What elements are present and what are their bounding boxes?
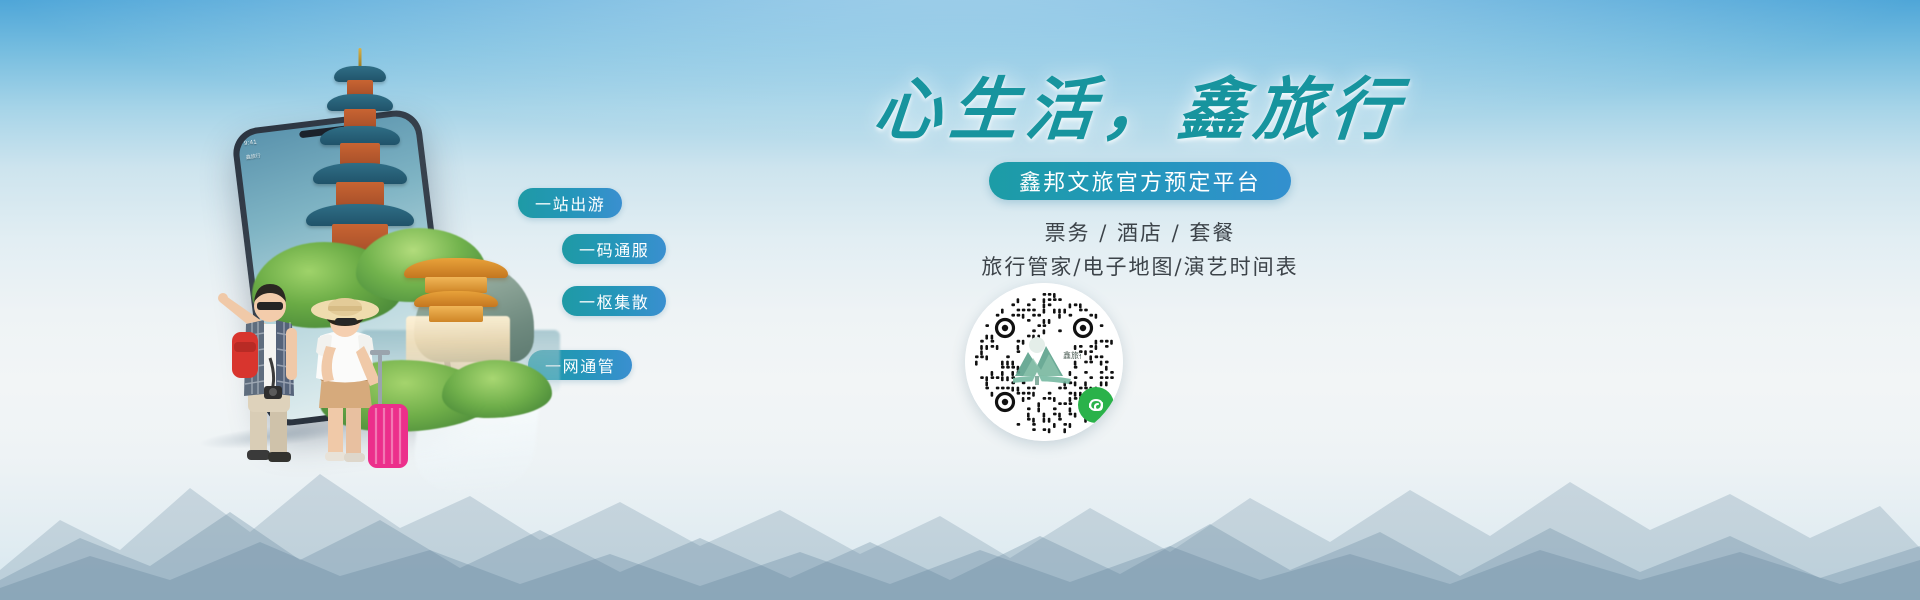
copy-block: 心生活，鑫旅行 鑫邦文旅官方预定平台 票务 / 酒店 / 套餐 旅行管家/电子地… bbox=[790, 72, 1490, 284]
wechat-miniprogram-icon bbox=[1078, 387, 1114, 423]
feature-pill-label: 一站出游 bbox=[535, 191, 605, 215]
mountain-layer-near bbox=[0, 480, 1920, 600]
feature-pill-label: 一码通服 bbox=[579, 237, 649, 261]
headline: 心生活，鑫旅行 bbox=[787, 72, 1494, 148]
platform-badge[interactable]: 鑫邦文旅官方预定平台 bbox=[989, 162, 1291, 200]
wechat-miniprogram-qr[interactable]: 鑫旅行 bbox=[965, 283, 1123, 441]
service-description: 票务 / 酒店 / 套餐 旅行管家/电子地图/演艺时间表 bbox=[790, 216, 1490, 284]
feature-pill-yizhanchuyou[interactable]: 一站出游 bbox=[518, 188, 622, 218]
qr-logo-text: 鑫旅行 bbox=[1063, 350, 1081, 360]
platform-badge-label: 鑫邦文旅官方预定平台 bbox=[1019, 165, 1261, 197]
service-line-1: 票务 / 酒店 / 套餐 bbox=[790, 216, 1490, 250]
qr-brand-logo: 鑫旅行 bbox=[1007, 332, 1081, 392]
feature-pill-yimatongfu[interactable]: 一码通服 bbox=[562, 234, 666, 264]
feature-pill-label: 一枢集散 bbox=[579, 289, 649, 313]
promo-banner: 9:41 鑫旅行 bbox=[0, 0, 1920, 600]
service-line-2: 旅行管家/电子地图/演艺时间表 bbox=[790, 250, 1490, 284]
feature-pill-yishujisan[interactable]: 一枢集散 bbox=[562, 286, 666, 316]
traveler-couple bbox=[192, 262, 422, 472]
